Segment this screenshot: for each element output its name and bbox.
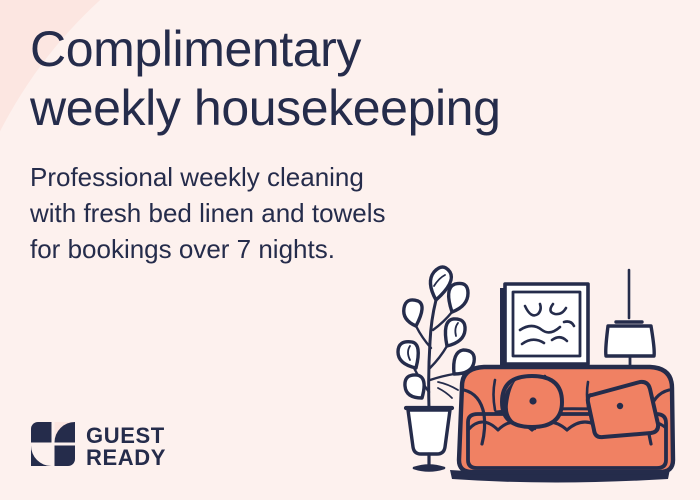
brand-word-top: GUEST [86,425,166,446]
subtitle-line-2: with fresh bed linen and towels [30,196,450,232]
guestready-logo-mark-icon [30,421,76,472]
subtitle-text: Professional weekly cleaning with fresh … [30,160,450,268]
framed-picture-icon [500,284,588,368]
pendant-lamp-icon [606,270,654,378]
headline-line-1: Complimentary [30,20,630,79]
brand-logo: GUEST READY [30,421,166,472]
headline-line-2: weekly housekeeping [30,79,630,138]
living-room-illustration [392,264,692,494]
page-title: Complimentary weekly housekeeping [30,20,630,138]
banner-content: Complimentary weekly housekeeping Profes… [0,0,700,500]
brand-word-bottom: READY [86,447,166,468]
subtitle-line-3: for bookings over 7 nights. [30,232,450,268]
promo-banner: Complimentary weekly housekeeping Profes… [0,0,700,500]
brand-wordmark: GUEST READY [86,425,166,468]
subtitle-line-1: Professional weekly cleaning [30,160,450,196]
sofa-icon [450,367,673,483]
